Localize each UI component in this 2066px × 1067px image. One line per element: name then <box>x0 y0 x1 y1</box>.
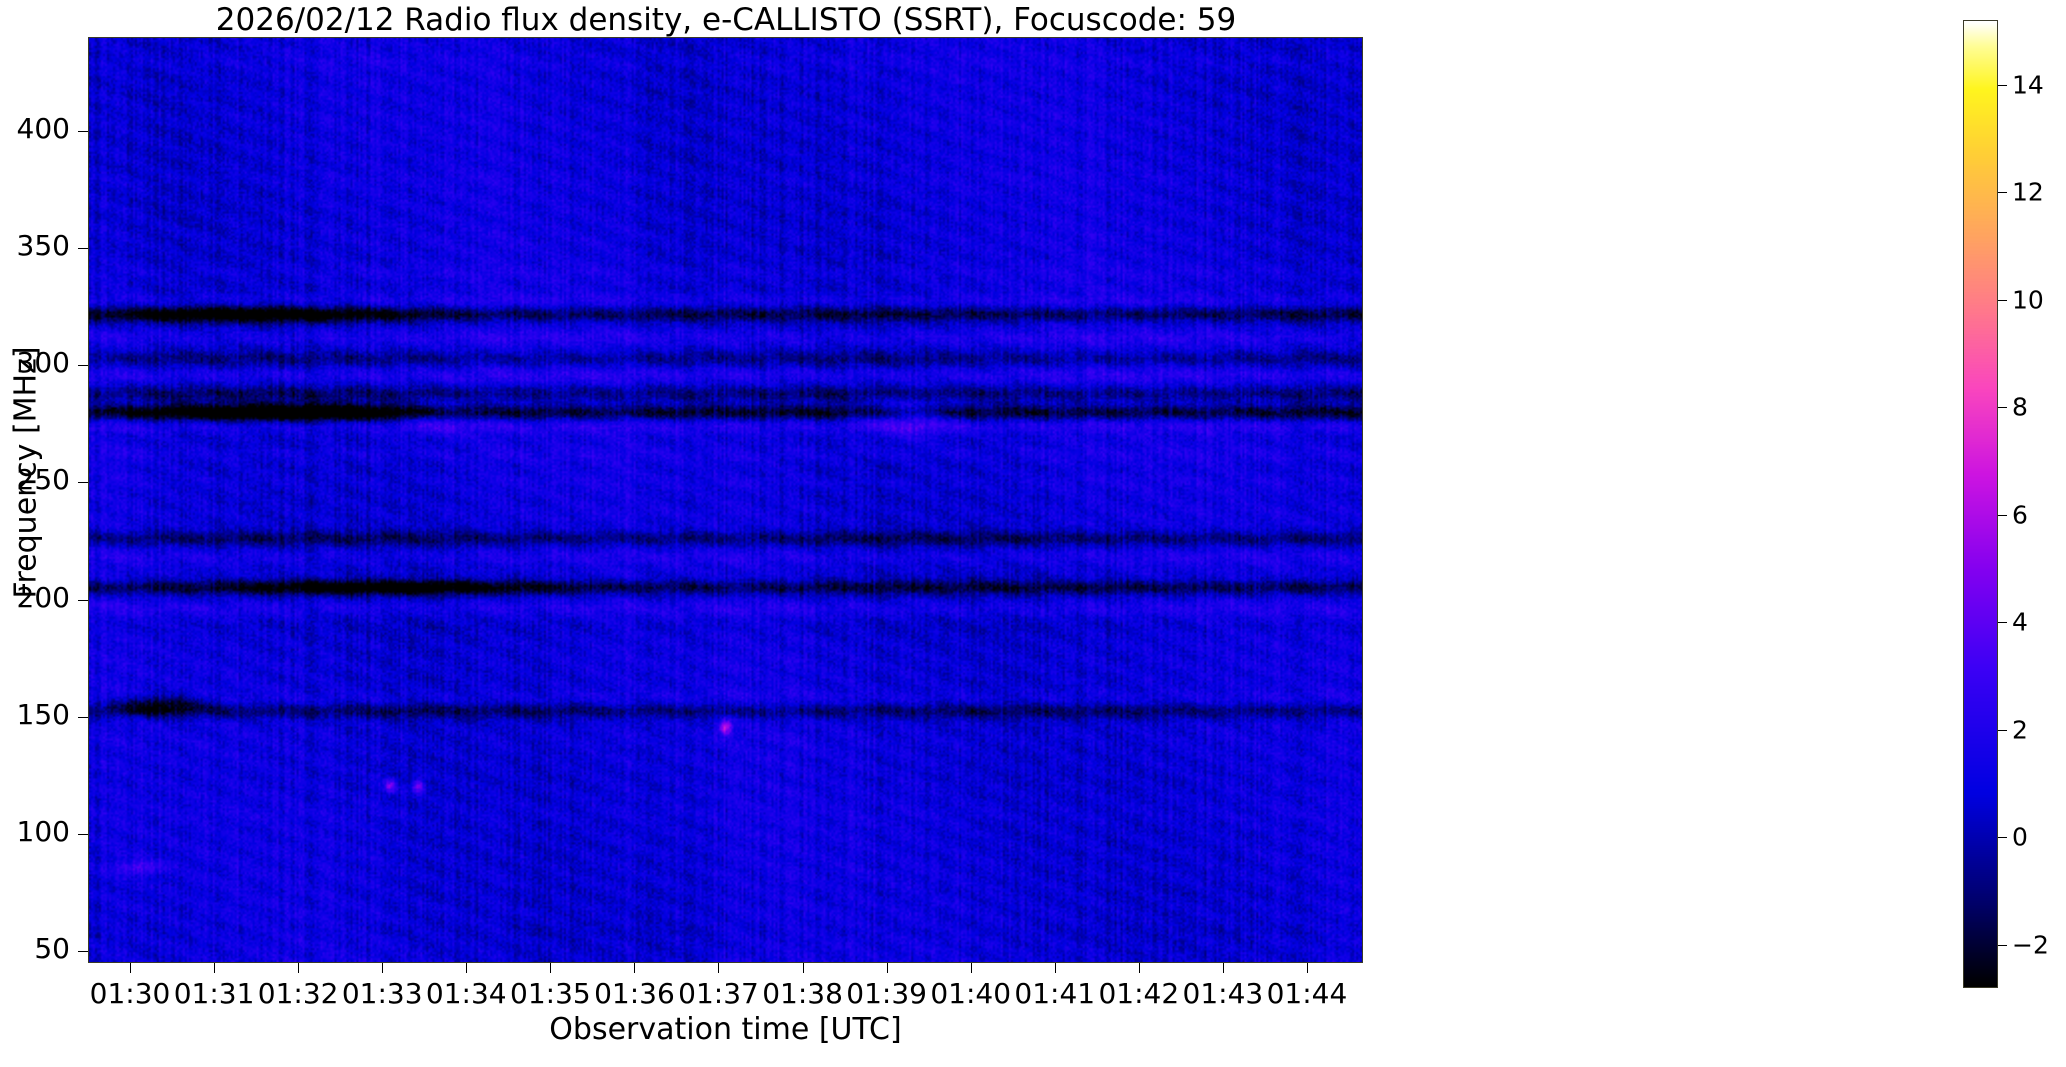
y-tick-mark <box>78 717 88 718</box>
y-tick-label: 250 <box>0 463 70 496</box>
colorbar-tick-label: 8 <box>2012 393 2028 422</box>
y-tick-mark <box>78 951 88 952</box>
colorbar <box>1963 20 1998 988</box>
colorbar-tick-label: 0 <box>2012 823 2028 852</box>
x-tick-mark <box>718 963 719 973</box>
x-tick-label: 01:34 <box>426 977 507 1010</box>
colorbar-tick-mark <box>1998 515 2007 516</box>
y-tick-mark <box>78 365 88 366</box>
y-tick-mark <box>78 834 88 835</box>
colorbar-tick-mark <box>1998 192 2007 193</box>
colorbar-tick-mark <box>1998 730 2007 731</box>
colorbar-tick-mark <box>1998 300 2007 301</box>
x-tick-mark <box>382 963 383 973</box>
x-axis-label: Observation time [UTC] <box>88 1012 1363 1047</box>
figure-root: 2026/02/12 Radio flux density, e-CALLIST… <box>0 0 2066 1067</box>
y-tick-label: 350 <box>0 229 70 262</box>
x-tick-label: 01:40 <box>930 977 1011 1010</box>
x-tick-label: 01:32 <box>258 977 339 1010</box>
x-tick-label: 01:38 <box>762 977 843 1010</box>
x-tick-label: 01:44 <box>1267 977 1348 1010</box>
x-tick-label: 01:35 <box>510 977 591 1010</box>
colorbar-tick-label: 14 <box>2012 70 2044 99</box>
x-tick-label: 01:39 <box>846 977 927 1010</box>
x-tick-label: 01:33 <box>342 977 423 1010</box>
colorbar-tick-label: 10 <box>2012 285 2044 314</box>
x-tick-label: 01:31 <box>174 977 255 1010</box>
spectrogram-image <box>89 38 1362 962</box>
colorbar-tick-label: 6 <box>2012 500 2028 529</box>
y-tick-mark <box>78 600 88 601</box>
y-tick-label: 300 <box>0 346 70 379</box>
colorbar-gradient <box>1964 21 1997 987</box>
y-tick-mark <box>78 131 88 132</box>
y-tick-label: 200 <box>0 581 70 614</box>
x-tick-mark <box>634 963 635 973</box>
x-tick-mark <box>214 963 215 973</box>
colorbar-tick-mark <box>1998 407 2007 408</box>
y-tick-mark <box>78 248 88 249</box>
x-tick-mark <box>1223 963 1224 973</box>
x-tick-label: 01:36 <box>594 977 675 1010</box>
y-tick-label: 400 <box>0 112 70 145</box>
x-tick-label: 01:43 <box>1183 977 1264 1010</box>
y-tick-label: 100 <box>0 815 70 848</box>
x-tick-mark <box>466 963 467 973</box>
x-tick-label: 01:42 <box>1098 977 1179 1010</box>
x-tick-mark <box>971 963 972 973</box>
x-tick-mark <box>1055 963 1056 973</box>
colorbar-tick-mark <box>1998 85 2007 86</box>
colorbar-tick-label: 12 <box>2012 178 2044 207</box>
colorbar-tick-mark <box>1998 622 2007 623</box>
colorbar-tick-mark <box>1998 945 2007 946</box>
y-tick-mark <box>78 482 88 483</box>
x-tick-mark <box>298 963 299 973</box>
colorbar-tick-label: −2 <box>2012 930 2049 959</box>
y-tick-label: 150 <box>0 698 70 731</box>
x-tick-label: 01:30 <box>90 977 171 1010</box>
x-tick-mark <box>887 963 888 973</box>
x-tick-mark <box>1139 963 1140 973</box>
x-tick-mark <box>130 963 131 973</box>
x-tick-mark <box>803 963 804 973</box>
colorbar-tick-label: 2 <box>2012 715 2028 744</box>
x-tick-label: 01:41 <box>1014 977 1095 1010</box>
spectrogram-plot-area <box>88 37 1363 963</box>
x-tick-mark <box>550 963 551 973</box>
x-tick-mark <box>1307 963 1308 973</box>
y-tick-label: 50 <box>0 932 70 965</box>
colorbar-tick-mark <box>1998 837 2007 838</box>
x-tick-label: 01:37 <box>678 977 759 1010</box>
page-title: 2026/02/12 Radio flux density, e-CALLIST… <box>88 2 1364 38</box>
colorbar-tick-label: 4 <box>2012 608 2028 637</box>
